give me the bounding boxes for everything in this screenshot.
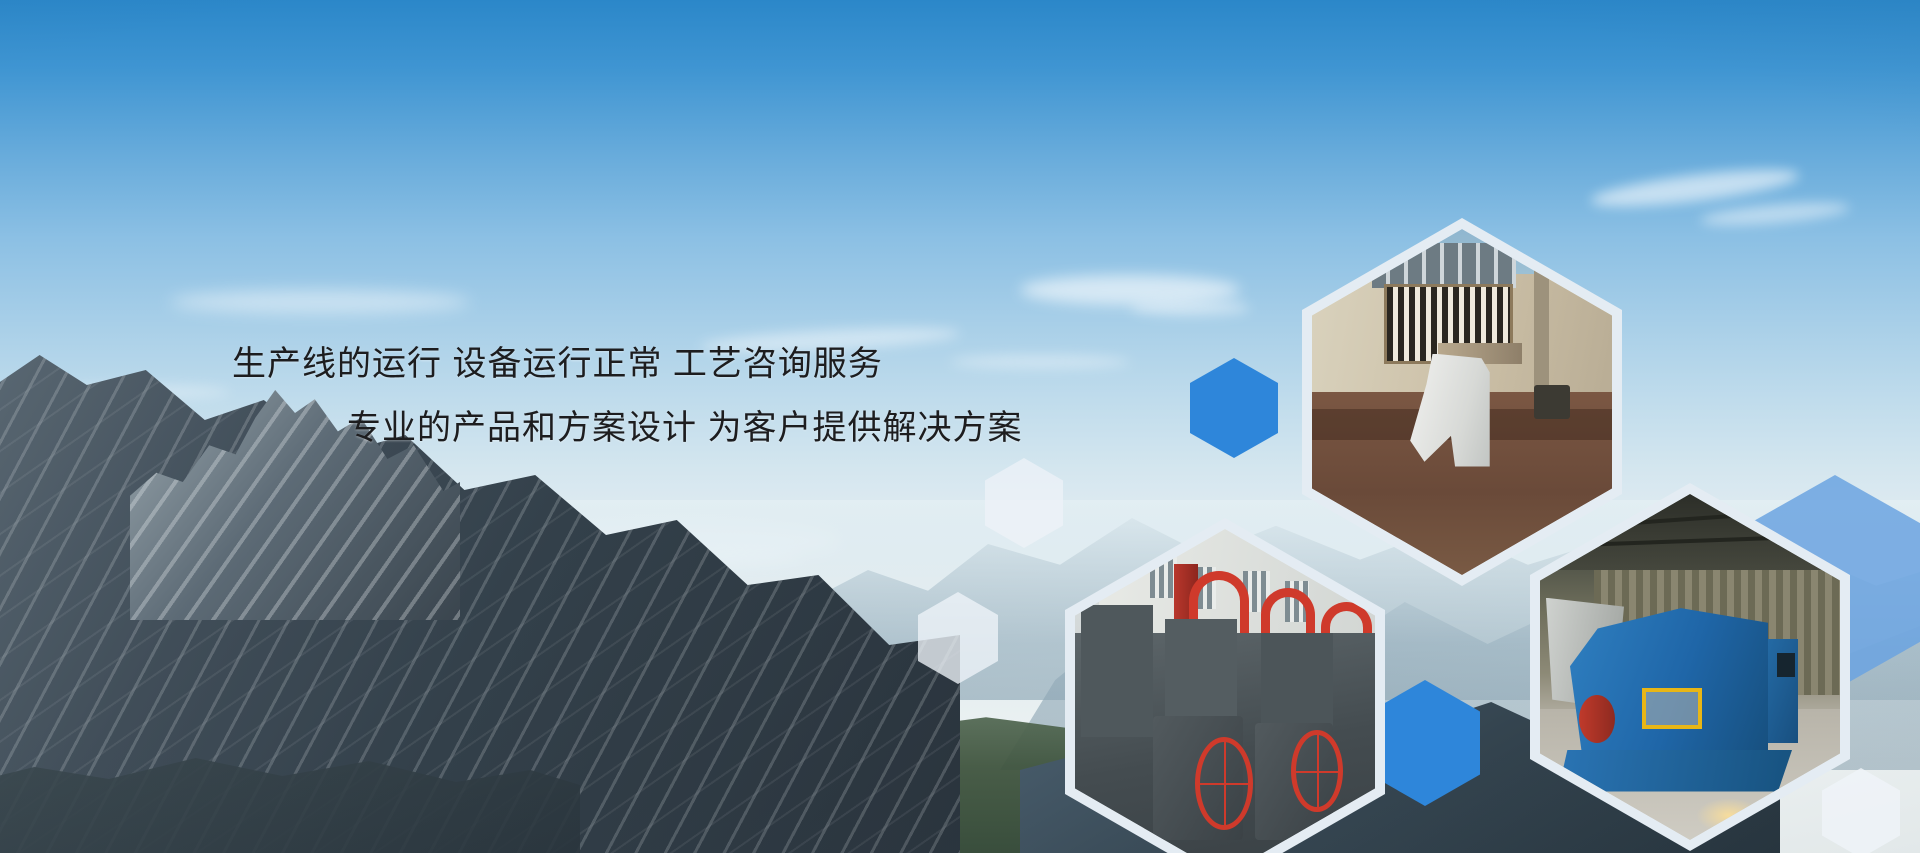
headline-block: 生产线的运行 设备运行正常 工艺咨询服务 专业的产品和方案设计 为客户提供解决方… [0,0,1920,853]
headline-line-1: 生产线的运行 设备运行正常 工艺咨询服务 [232,336,883,385]
hero-banner: 生产线的运行 设备运行正常 工艺咨询服务 专业的产品和方案设计 为客户提供解决方… [0,0,1920,853]
headline-line-2: 专业的产品和方案设计 为客户提供解决方案 [347,400,1022,449]
